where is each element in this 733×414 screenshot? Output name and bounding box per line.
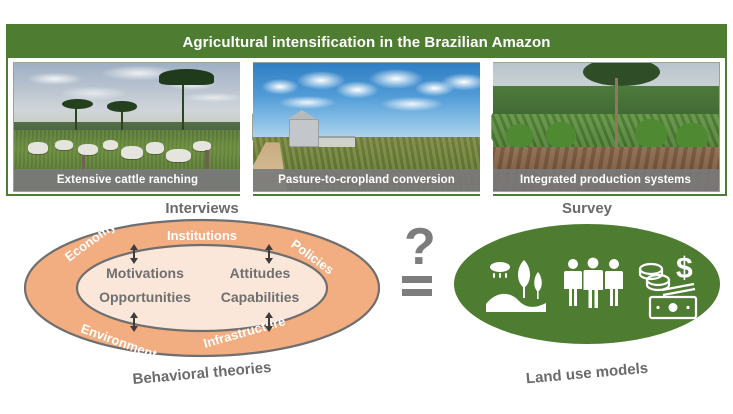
cow-shape — [166, 149, 191, 162]
cow-shape — [28, 142, 48, 154]
photo-cell-integrated[interactable]: Integrated production systems — [486, 58, 725, 196]
grain-silo-icon — [289, 119, 319, 147]
intensification-panel: Agricultural intensification in the Braz… — [6, 24, 727, 196]
interviews-label: Interviews — [22, 200, 382, 217]
survey-ellipse-svg: $ — [452, 216, 722, 356]
photo-cell-cattle[interactable]: Extensive cattle ranching — [8, 58, 247, 196]
cloud-layer — [253, 63, 480, 142]
palm-crown-icon — [107, 101, 137, 111]
survey-group: Survey — [452, 200, 722, 380]
land-use-models-label: Land use models — [452, 353, 722, 393]
question-equals-group: ? — [394, 218, 450, 304]
core-label-capabilities: Capabilities — [221, 289, 300, 305]
behavioral-ellipse-svg: Economy Institutions Policies Environmen… — [22, 216, 382, 360]
survey-label: Survey — [452, 200, 722, 217]
palm-crown-icon — [159, 69, 213, 84]
banana-plant-icon — [676, 123, 708, 150]
question-mark-icon: ? — [404, 218, 436, 276]
banana-plant-icon — [546, 122, 576, 148]
photo-caption: Integrated production systems — [492, 169, 719, 191]
behavioral-theories-text: Behavioral theories — [132, 359, 272, 388]
equals-bar-bottom — [402, 289, 432, 296]
banana-plant-icon — [635, 119, 667, 147]
inner-core-ellipse — [77, 245, 327, 331]
banner-title: Agricultural intensification in the Braz… — [182, 34, 550, 51]
land-use-models-text: Land use models — [525, 360, 649, 388]
cow-shape — [78, 144, 98, 156]
silo-roof-icon — [288, 110, 316, 119]
farm-shed-icon — [319, 136, 355, 148]
silo-cropland-photo: Pasture-to-cropland conversion — [252, 62, 481, 192]
cow-shape — [121, 146, 144, 159]
banana-tilled-soil-photo: Integrated production systems — [491, 62, 720, 192]
equals-bar-top — [402, 276, 432, 283]
cow-shape — [55, 140, 73, 150]
photo-caption: Extensive cattle ranching — [14, 169, 241, 191]
behavioral-theories-group: Interviews Economy Institutions Policies… — [22, 200, 382, 380]
cattle-pasture-photo: Extensive cattle ranching — [13, 62, 242, 192]
photo-cell-cropland[interactable]: Pasture-to-cropland conversion — [247, 58, 486, 196]
banana-plant-icon — [506, 124, 533, 147]
panel-banner: Agricultural intensification in the Braz… — [8, 26, 725, 58]
ring-label-institutions: Institutions — [167, 228, 237, 243]
core-label-motivations: Motivations — [106, 265, 184, 281]
core-label-opportunities: Opportunities — [99, 289, 191, 305]
photo-caption: Pasture-to-cropland conversion — [253, 169, 480, 191]
dollar-sign-icon: $ — [676, 252, 693, 285]
cow-shape — [146, 142, 164, 154]
photo-strip: Extensive cattle ranching Pasture-to-cro… — [8, 58, 725, 196]
core-label-attitudes: Attitudes — [230, 265, 291, 281]
cow-shape — [193, 141, 211, 151]
conceptual-diagram: Interviews Economy Institutions Policies… — [0, 196, 733, 414]
cow-shape — [103, 140, 119, 150]
